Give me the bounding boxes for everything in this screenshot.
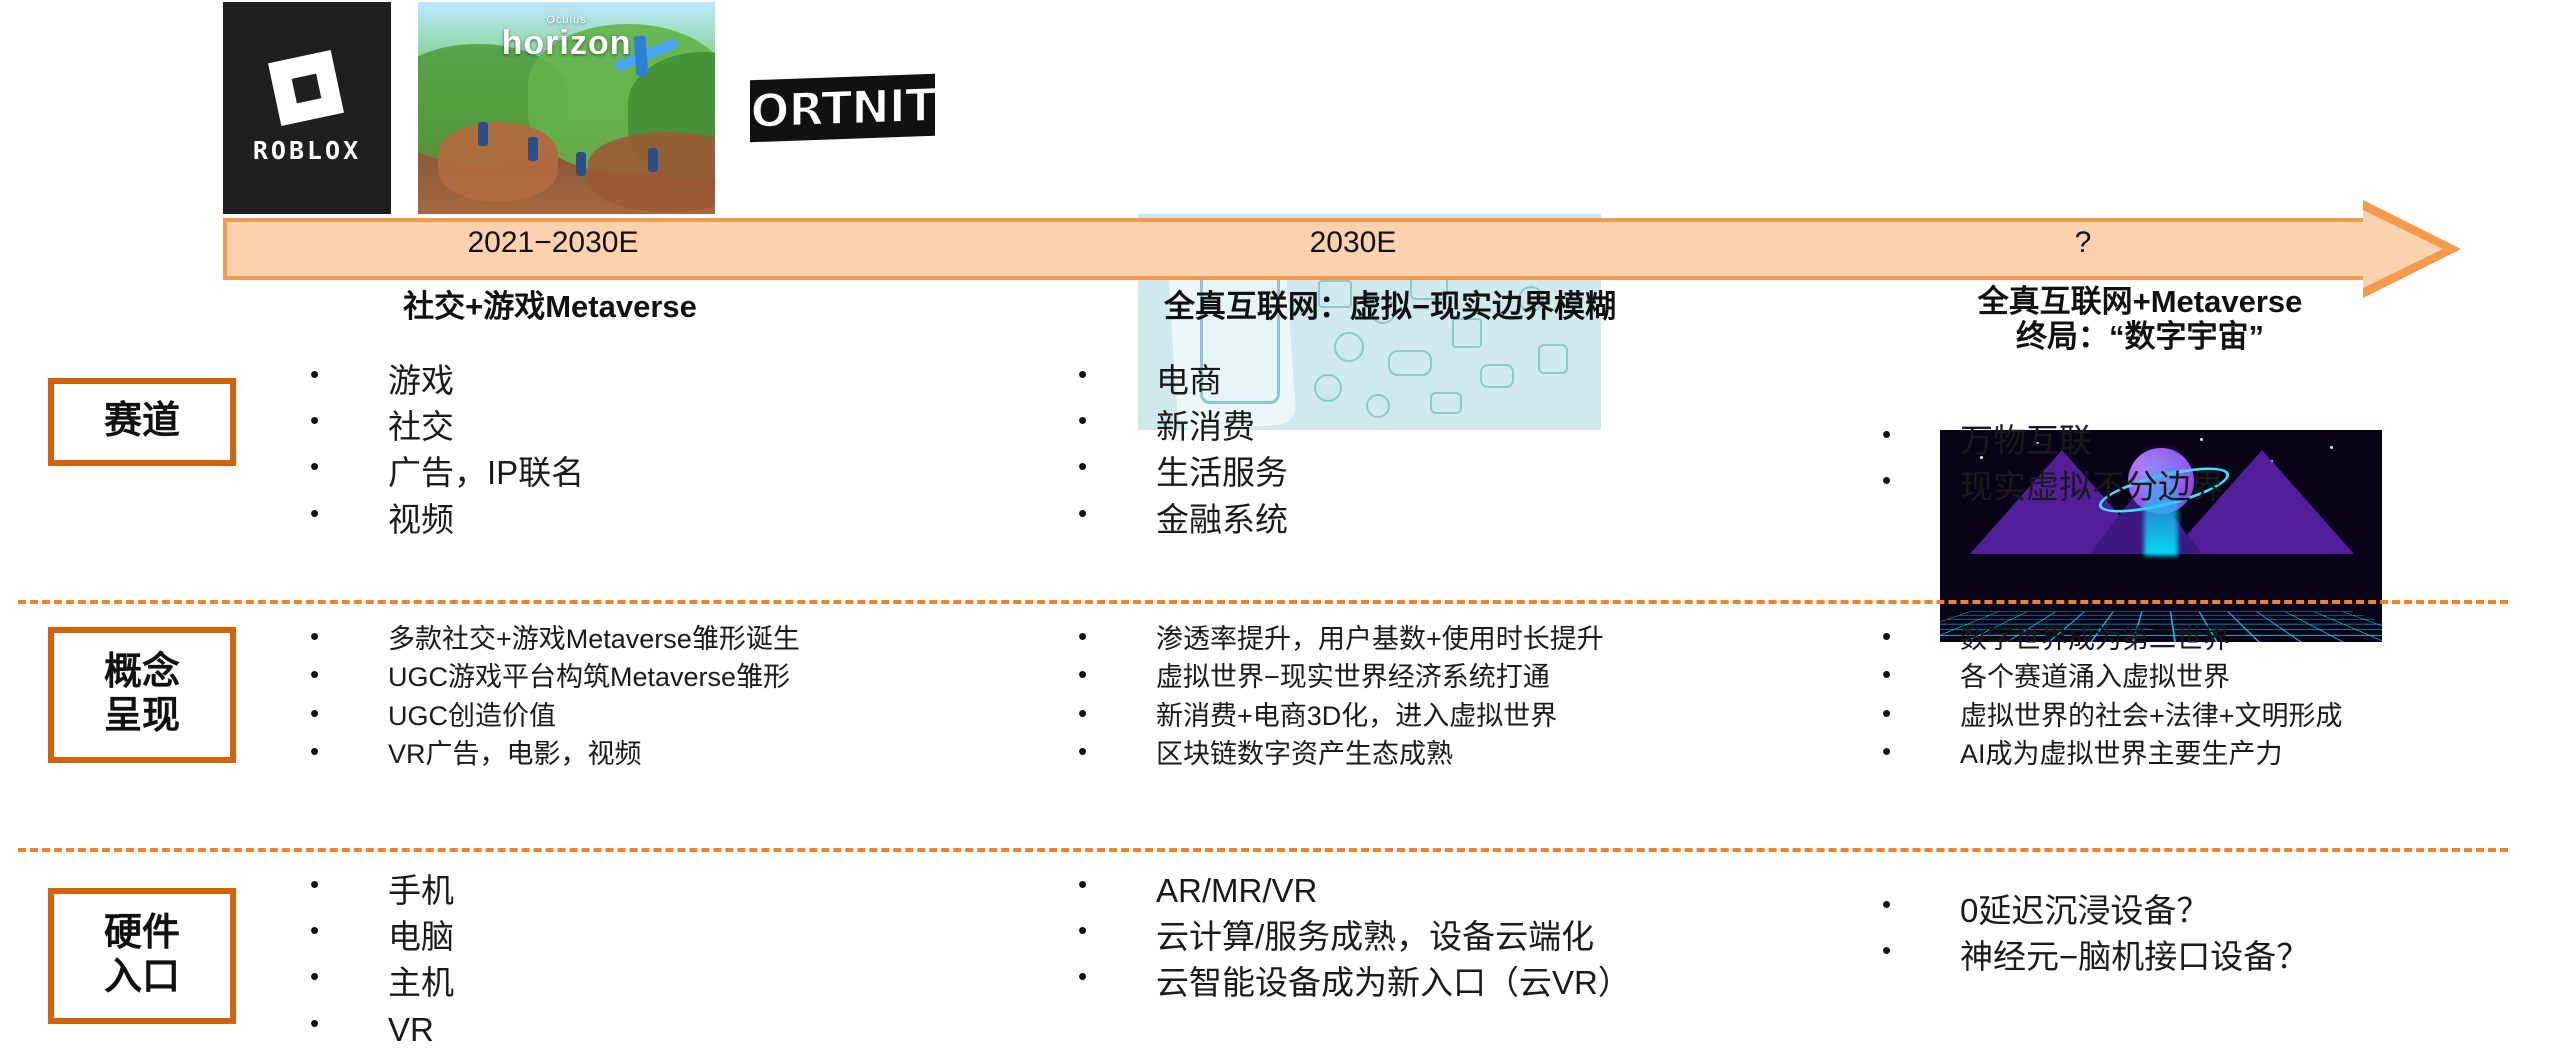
- cell-hardware-col2: AR/MR/VR云计算/服务成熟，设备云端化云智能设备成为新入口（云VR）: [1078, 868, 1631, 1007]
- bullet-item: 数字世界成为第二世界: [1882, 620, 2343, 658]
- bullet-item: 电商: [1078, 358, 1288, 404]
- bullet-item: 云计算/服务成熟，设备云端化: [1078, 914, 1631, 960]
- row-label-track: 赛道: [48, 378, 236, 466]
- bullet-item: 社交: [310, 404, 584, 450]
- bullet-item: 虚拟世界的社会+法律+文明形成: [1882, 697, 2343, 735]
- column-header-2: 全真互联网：虚拟−现实边界模糊: [1010, 290, 1770, 325]
- bullet-item: 神经元−脑机接口设备？: [1882, 934, 2309, 980]
- bullet-item: UGC游戏平台构筑Metaverse雏形: [310, 658, 800, 696]
- bullet-item: UGC创造价值: [310, 697, 800, 735]
- fortnite-wordmark: FORTNITE: [750, 73, 935, 144]
- bullet-list: 电商新消费生活服务金融系统: [1078, 358, 1288, 543]
- bullet-item: 手机: [310, 868, 454, 914]
- bullet-list: 游戏社交广告，IP联名视频: [310, 358, 584, 543]
- timeline-period-2: 2030E: [1223, 226, 1483, 260]
- horizon-wordmark: Oculus horizon: [502, 14, 632, 60]
- bullet-item: 虚拟世界−现实世界经济系统打通: [1078, 658, 1604, 696]
- horizon-brand-big: horizon: [502, 26, 632, 60]
- bullet-item: AR/MR/VR: [1078, 868, 1631, 914]
- bullet-list: 数字世界成为第二世界各个赛道涌入虚拟世界虚拟世界的社会+法律+文明形成AI成为虚…: [1882, 620, 2343, 773]
- fortnite-logo-image: FORTNITE: [750, 2, 935, 214]
- bullet-item: 主机: [310, 960, 454, 1006]
- cell-hardware-col3: 0延迟沉浸设备？神经元−脑机接口设备？: [1882, 888, 2309, 980]
- roblox-logo-image: ROBLOX: [223, 2, 391, 214]
- cell-track-col3: 万物互联现实虚拟不分边界: [1882, 418, 2224, 510]
- bullet-item: 区块链数字资产生态成熟: [1078, 735, 1604, 773]
- bullet-list: 手机电脑主机VR: [310, 868, 454, 1053]
- bullet-list: AR/MR/VR云计算/服务成熟，设备云端化云智能设备成为新入口（云VR）: [1078, 868, 1631, 1007]
- cell-track-col1: 游戏社交广告，IP联名视频: [310, 358, 584, 543]
- column-header-1: 社交+游戏Metaverse: [240, 290, 860, 325]
- bullet-item: 各个赛道涌入虚拟世界: [1882, 658, 2343, 696]
- bullet-item: 新消费: [1078, 404, 1288, 450]
- horizon-worlds-image: Oculus horizon: [418, 2, 715, 214]
- top-image-strip: ROBLOX Oculus horizon FORTNITE: [0, 0, 2560, 218]
- bullet-item: 现实虚拟不分边界: [1882, 464, 2224, 510]
- bullet-item: 视频: [310, 497, 584, 543]
- bullet-item: 广告，IP联名: [310, 450, 584, 496]
- row-label-concept: 概念呈现: [48, 627, 236, 763]
- bullet-item: 万物互联: [1882, 418, 2224, 464]
- column-header-3: 全真互联网+Metaverse终局：“数字宇宙”: [1830, 285, 2450, 354]
- row-divider-2: [18, 848, 2508, 852]
- bullet-item: 渗透率提升，用户基数+使用时长提升: [1078, 620, 1604, 658]
- bullet-item: 生活服务: [1078, 450, 1288, 496]
- bullet-item: 游戏: [310, 358, 584, 404]
- bullet-item: 金融系统: [1078, 497, 1288, 543]
- bullet-item: 云智能设备成为新入口（云VR）: [1078, 960, 1631, 1006]
- bullet-item: VR广告，电影，视频: [310, 735, 800, 773]
- timeline-arrow: 2021−2030E 2030E ?: [223, 218, 2445, 280]
- bullet-item: 新消费+电商3D化，进入虚拟世界: [1078, 697, 1604, 735]
- bullet-item: AI成为虚拟世界主要生产力: [1882, 735, 2343, 773]
- cell-track-col2: 电商新消费生活服务金融系统: [1078, 358, 1288, 543]
- cell-concept-col1: 多款社交+游戏Metaverse雏形诞生UGC游戏平台构筑Metaverse雏形…: [310, 620, 800, 773]
- row-label-hardware: 硬件入口: [48, 888, 236, 1024]
- horizon-brand-small: Oculus: [502, 14, 632, 26]
- bullet-item: 多款社交+游戏Metaverse雏形诞生: [310, 620, 800, 658]
- timeline-arrowhead-inner: [2363, 210, 2443, 288]
- bullet-list: 万物互联现实虚拟不分边界: [1882, 418, 2224, 510]
- roblox-mark-icon: [268, 52, 346, 130]
- bullet-list: 多款社交+游戏Metaverse雏形诞生UGC游戏平台构筑Metaverse雏形…: [310, 620, 800, 773]
- bullet-item: VR: [310, 1007, 454, 1053]
- bullet-item: 0延迟沉浸设备？: [1882, 888, 2309, 934]
- cell-concept-col3: 数字世界成为第二世界各个赛道涌入虚拟世界虚拟世界的社会+法律+文明形成AI成为虚…: [1882, 620, 2343, 773]
- bullet-list: 渗透率提升，用户基数+使用时长提升虚拟世界−现实世界经济系统打通新消费+电商3D…: [1078, 620, 1604, 773]
- timeline-period-3: ?: [2023, 226, 2143, 260]
- bullet-item: 电脑: [310, 914, 454, 960]
- roblox-wordmark: ROBLOX: [253, 136, 361, 165]
- bullet-list: 0延迟沉浸设备？神经元−脑机接口设备？: [1882, 888, 2309, 980]
- timeline-period-1: 2021−2030E: [343, 226, 763, 260]
- cell-concept-col2: 渗透率提升，用户基数+使用时长提升虚拟世界−现实世界经济系统打通新消费+电商3D…: [1078, 620, 1604, 773]
- row-divider-1: [18, 600, 2508, 604]
- cell-hardware-col1: 手机电脑主机VR: [310, 868, 454, 1053]
